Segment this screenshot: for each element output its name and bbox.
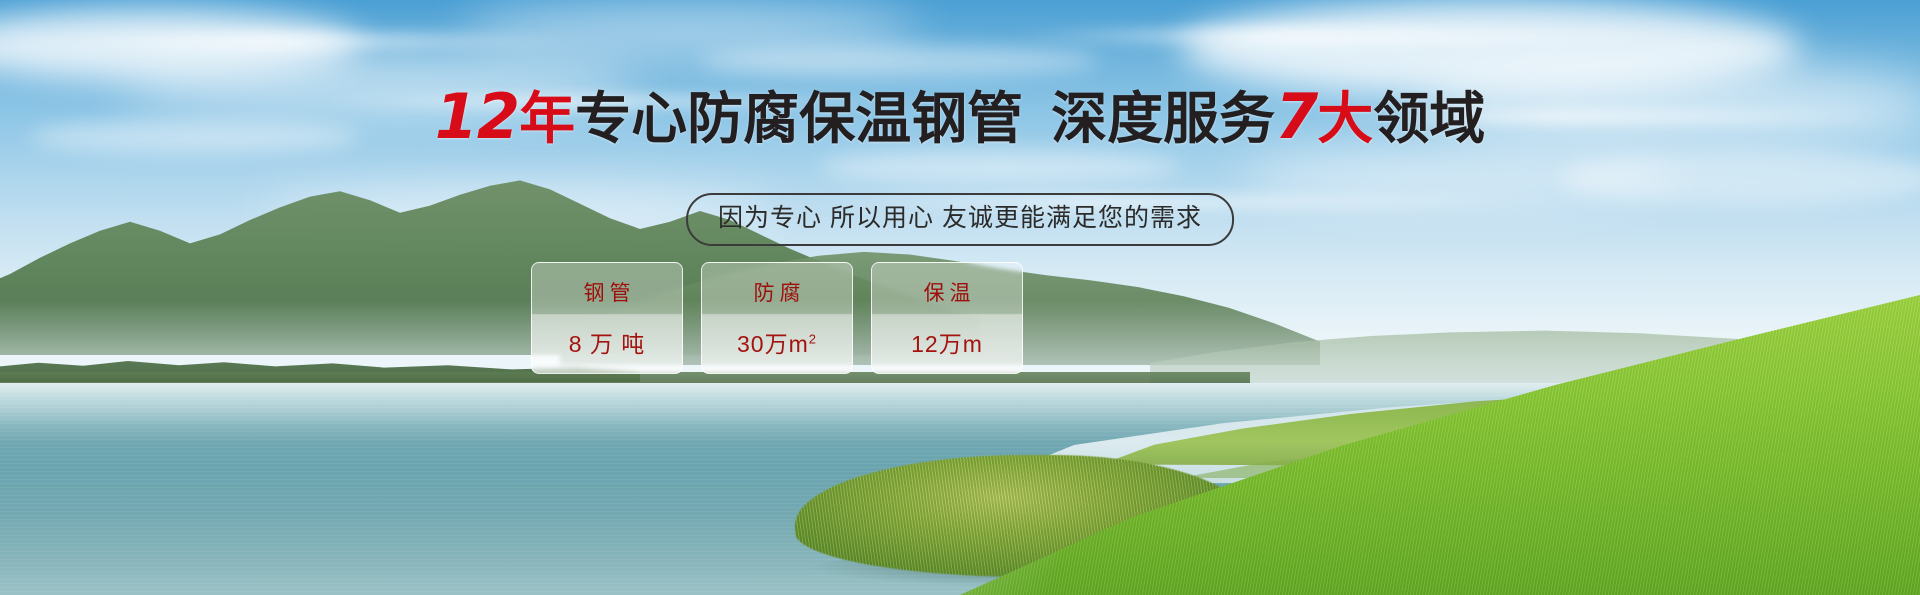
headline-fields-number: 7	[1275, 80, 1317, 153]
stat-card-value-text: 30万m	[737, 331, 809, 357]
stat-card-insulation: 保温 12万m	[871, 262, 1023, 374]
headline-service-text: 深度服务	[1051, 87, 1275, 152]
headline-fields-unit: 大	[1317, 87, 1373, 152]
stat-card-label: 保温	[919, 277, 976, 307]
stat-card-label: 钢管	[579, 277, 636, 307]
stat-card-value-text: 12万m	[911, 331, 983, 357]
headline: 12年专心防腐保温钢管深度服务7大领域	[0, 86, 1920, 148]
stat-card-value: 30万m2	[737, 325, 817, 359]
subtitle-pill: 因为专心 所以用心 友诚更能满足您的需求	[686, 193, 1234, 246]
stat-card-value: 8 万 吨	[569, 325, 646, 359]
stat-card-group: 钢管 8 万 吨 防腐 30万m2 保温 12万m	[531, 262, 1023, 374]
stat-card-steel-pipe: 钢管 8 万 吨	[531, 262, 683, 374]
stat-card-value-superscript: 2	[809, 331, 817, 346]
headline-fields-text: 领域	[1373, 87, 1485, 152]
headline-years-number: 12	[435, 80, 519, 153]
banner-content: 12年专心防腐保温钢管深度服务7大领域 因为专心 所以用心 友诚更能满足您的需求…	[0, 0, 1920, 595]
headline-years-unit: 年	[519, 87, 575, 152]
stat-card-value-text: 8 万 吨	[569, 331, 646, 357]
stat-card-anticorrosion: 防腐 30万m2	[701, 262, 853, 374]
hero-banner: 12年专心防腐保温钢管深度服务7大领域 因为专心 所以用心 友诚更能满足您的需求…	[0, 0, 1920, 595]
headline-main-text: 专心防腐保温钢管	[575, 87, 1023, 152]
stat-card-label: 防腐	[749, 277, 806, 307]
stat-card-value: 12万m	[911, 325, 983, 359]
